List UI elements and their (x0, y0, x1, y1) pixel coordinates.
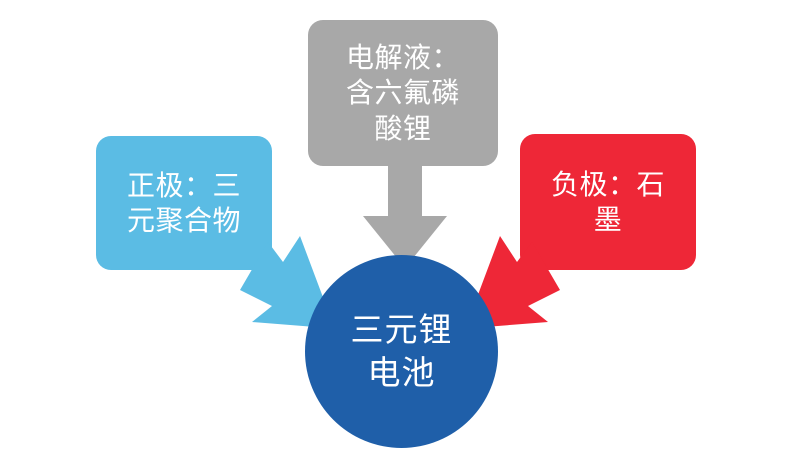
battery-center-node[interactable]: 三元锂 电池 (305, 255, 498, 448)
electrolyte-label: 电解液： 含六氟磷 酸锂 (308, 40, 498, 146)
diagram-canvas: 电解液： 含六氟磷 酸锂 正极：三 元聚合物 负极：石 墨 三元锂 电池 (0, 0, 800, 472)
battery-center-label: 三元锂 电池 (305, 309, 498, 395)
cathode-label: 正极：三 元聚合物 (96, 168, 272, 239)
anode-label: 负极：石 墨 (520, 167, 696, 238)
electrolyte-node[interactable]: 电解液： 含六氟磷 酸锂 (308, 20, 498, 166)
